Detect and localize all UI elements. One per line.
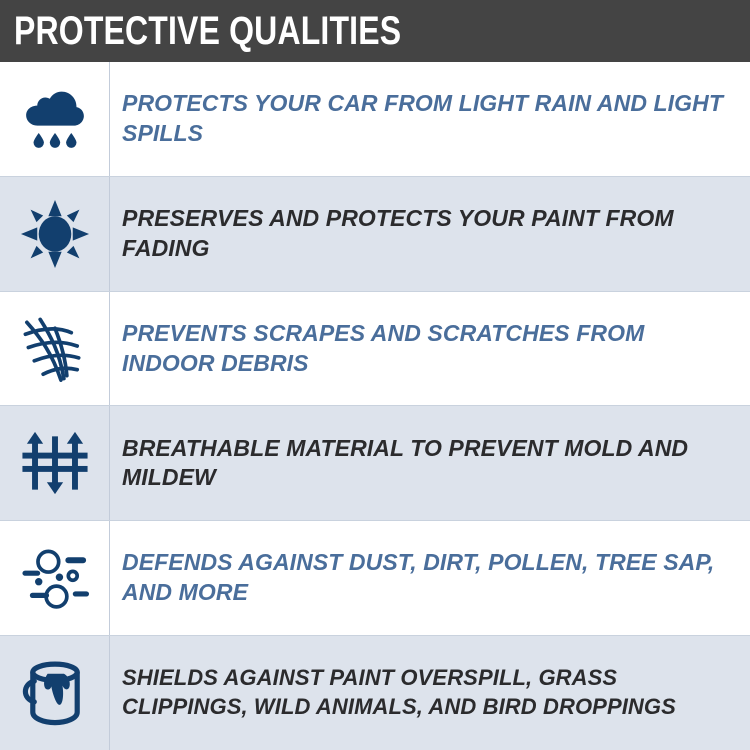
feature-row: PREVENTS SCRAPES AND SCRATCHES FROM INDO… (0, 292, 750, 407)
icon-cell (0, 521, 110, 635)
icon-cell (0, 177, 110, 291)
feature-row: PRESERVES AND PROTECTS YOUR PAINT FROM F… (0, 177, 750, 292)
feature-row: PROTECTS YOUR CAR FROM LIGHT RAIN AND LI… (0, 62, 750, 177)
feature-text: SHIELDS AGAINST PAINT OVERSPILL, GRASS C… (122, 664, 736, 721)
icon-cell (0, 636, 110, 750)
text-cell: SHIELDS AGAINST PAINT OVERSPILL, GRASS C… (110, 636, 750, 750)
feature-text: PRESERVES AND PROTECTS YOUR PAINT FROM F… (122, 204, 736, 264)
icon-cell (0, 62, 110, 176)
icon-cell (0, 292, 110, 406)
breathable-airflow-icon (18, 426, 92, 500)
protective-qualities-infographic: PROTECTIVE QUALITIES PROTECTS YOUR CAR F… (0, 0, 750, 750)
feature-text: PROTECTS YOUR CAR FROM LIGHT RAIN AND LI… (122, 89, 736, 149)
text-cell: DEFENDS AGAINST DUST, DIRT, POLLEN, TREE… (110, 521, 750, 635)
feature-row: SHIELDS AGAINST PAINT OVERSPILL, GRASS C… (0, 636, 750, 750)
text-cell: PREVENTS SCRAPES AND SCRATCHES FROM INDO… (110, 292, 750, 406)
dust-particles-icon (18, 541, 92, 615)
text-cell: PROTECTS YOUR CAR FROM LIGHT RAIN AND LI… (110, 62, 750, 176)
icon-cell (0, 406, 110, 520)
sun-icon (18, 197, 92, 271)
scratches-mesh-icon (18, 312, 92, 386)
page-title: PROTECTIVE QUALITIES (14, 11, 401, 51)
feature-row: DEFENDS AGAINST DUST, DIRT, POLLEN, TREE… (0, 521, 750, 636)
text-cell: BREATHABLE MATERIAL TO PREVENT MOLD AND … (110, 406, 750, 520)
feature-list: PROTECTS YOUR CAR FROM LIGHT RAIN AND LI… (0, 62, 750, 750)
feature-text: DEFENDS AGAINST DUST, DIRT, POLLEN, TREE… (122, 548, 736, 608)
rain-cloud-icon (18, 82, 92, 156)
header-bar: PROTECTIVE QUALITIES (0, 0, 750, 62)
paint-can-icon (18, 656, 92, 730)
feature-text: BREATHABLE MATERIAL TO PREVENT MOLD AND … (122, 434, 736, 494)
feature-row: BREATHABLE MATERIAL TO PREVENT MOLD AND … (0, 406, 750, 521)
feature-text: PREVENTS SCRAPES AND SCRATCHES FROM INDO… (122, 319, 736, 379)
text-cell: PRESERVES AND PROTECTS YOUR PAINT FROM F… (110, 177, 750, 291)
